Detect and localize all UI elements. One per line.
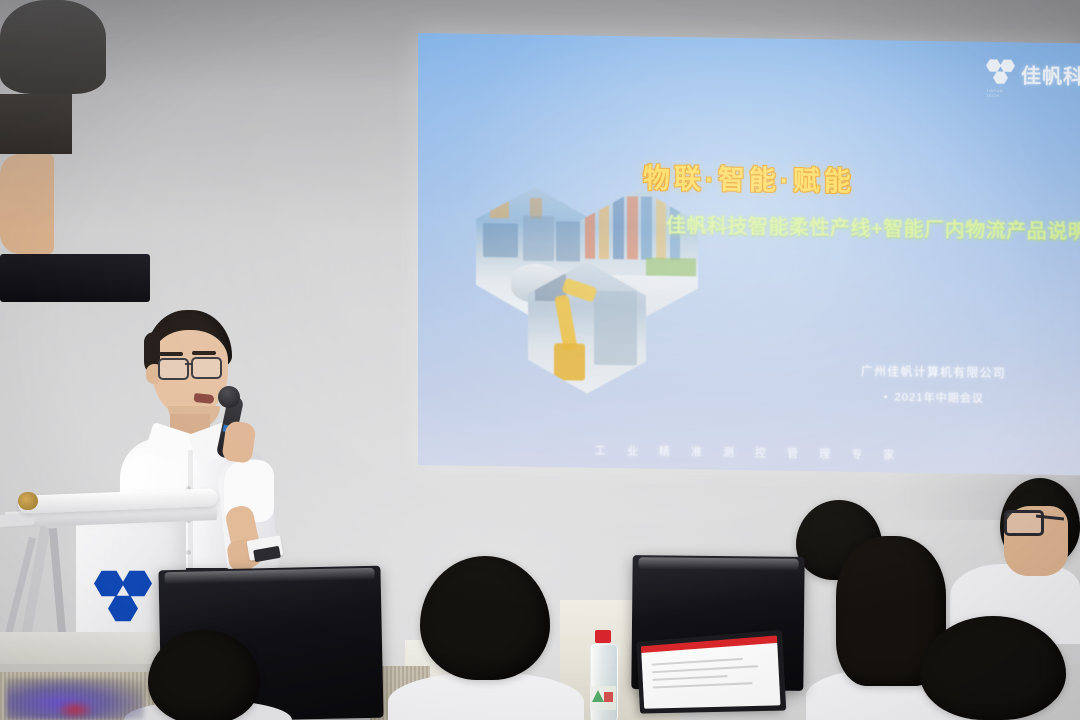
presentation-photo-scene: JIAFAN TECH 佳帆科 — [0, 0, 1080, 720]
slide-meeting-label: 2021年中期会议 — [884, 388, 984, 406]
podium-leg-front — [20, 526, 51, 647]
monitor-glow-red — [56, 700, 94, 720]
speaker-glasses-bridge — [185, 363, 192, 365]
slide-content: JIAFAN TECH 佳帆科 — [418, 33, 1080, 475]
slide-logo-text: 佳帆科 — [1021, 59, 1080, 89]
laptop-with-document — [630, 632, 790, 720]
attendee-head-front-center — [420, 556, 550, 680]
laptop-lid — [636, 630, 786, 714]
podium-lip — [0, 513, 34, 527]
podium-leg-mid — [49, 528, 67, 646]
slide-logo-subtext: JIAFAN TECH — [986, 88, 1016, 98]
attendee-hair-front-center — [0, 0, 106, 94]
speaker-mouth — [194, 393, 215, 404]
podium-logo-icon — [94, 570, 158, 628]
slide-meeting-text: 2021年中期会议 — [895, 388, 984, 405]
slide-subtitle: 佳帆科技智能柔性产线+智能厂内物流产品说明 — [666, 209, 1080, 245]
slide-company-name: 广州佳帆计算机有限公司 — [861, 362, 1006, 381]
attendee-hair-front-left — [0, 94, 72, 154]
projection-screen: JIAFAN TECH 佳帆科 — [418, 33, 1080, 475]
slide-tagline: 工 业 精 准 测 控 管 理 专 家 — [418, 439, 1080, 465]
slide-logo: JIAFAN TECH 佳帆科 — [986, 58, 1080, 90]
bullet-dot-icon — [884, 395, 887, 398]
speaker-hand-holding-mic — [221, 420, 256, 464]
computer-monitor-lower-left — [0, 254, 150, 302]
hexagon-trefoil-logo-icon: JIAFAN TECH — [986, 58, 1016, 88]
attendee-ear-foreground-right — [0, 154, 54, 254]
speaker-glasses-left-lens — [158, 358, 189, 380]
bottle-cap — [595, 630, 611, 643]
speaker-eyebrow-right — [192, 351, 216, 355]
speaker-glasses-right-lens — [191, 357, 222, 379]
speaker-eyebrow-left — [159, 352, 183, 356]
water-bottle — [590, 630, 616, 720]
